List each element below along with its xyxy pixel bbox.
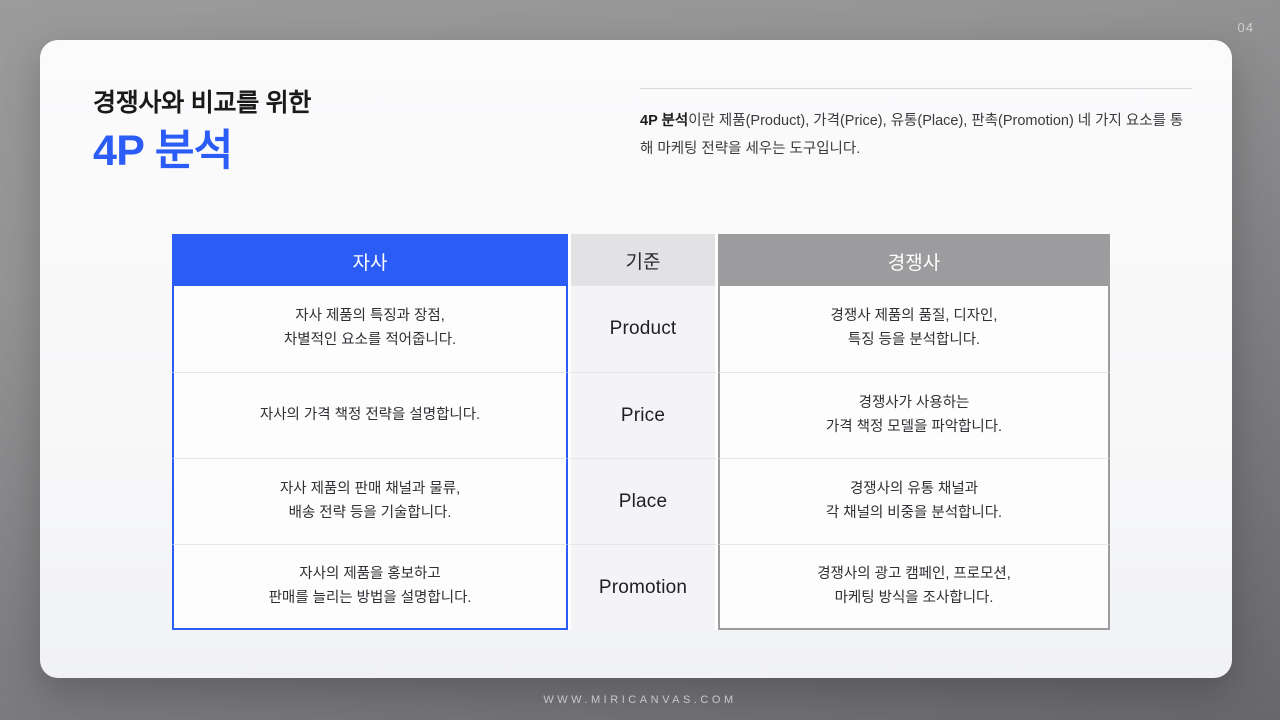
heading: 경쟁사와 비교를 위한 4P 분석 [93,88,311,176]
comparison-table: 자사 기준 경쟁사 자사 제품의 특징과 장점, 차별적인 요소를 적어줍니다.… [172,234,1110,630]
page-title: 4P 분석 [93,128,311,175]
cell-own: 자사의 가격 책정 전략을 설명합니다. [172,372,568,458]
cell-comp-line2: 각 채널의 비중을 분석합니다. [720,502,1108,526]
cell-own-line1: 자사 제품의 판매 채널과 물류, [174,478,566,502]
cell-own-line2: 판매를 늘리는 방법을 설명합니다. [174,587,566,611]
table-header-row: 자사 기준 경쟁사 [172,234,1110,286]
description-lead: 4P 분석 [640,113,688,129]
slide-card: 경쟁사와 비교를 위한 4P 분석 4P 분석이란 제품(Product), 가… [40,40,1232,678]
cell-comp-line2: 가격 책정 모델을 파악합니다. [720,416,1108,440]
cell-own: 자사 제품의 특징과 장점, 차별적인 요소를 적어줍니다. [172,286,568,372]
description-text: 4P 분석이란 제품(Product), 가격(Price), 유통(Place… [640,108,1192,164]
header-criterion: 기준 [568,234,718,286]
header-competitor: 경쟁사 [718,234,1110,286]
table-row: 자사의 가격 책정 전략을 설명합니다. Price 경쟁사가 사용하는 가격 … [172,372,1110,458]
divider [640,88,1192,89]
footer-url: WWW.MIRICANVAS.COM [0,694,1280,706]
cell-competitor: 경쟁사 제품의 품질, 디자인, 특징 등을 분석합니다. [718,286,1110,372]
cell-own-line2: 배송 전략 등을 기술합니다. [174,502,566,526]
table-row: 자사 제품의 특징과 장점, 차별적인 요소를 적어줍니다. Product 경… [172,286,1110,372]
cell-comp-line1: 경쟁사가 사용하는 [720,392,1108,416]
comparison-table-wrapper: 자사 기준 경쟁사 자사 제품의 특징과 장점, 차별적인 요소를 적어줍니다.… [172,234,1110,630]
cell-competitor: 경쟁사가 사용하는 가격 책정 모델을 파악합니다. [718,372,1110,458]
cell-criterion: Price [568,372,718,458]
header-own: 자사 [172,234,568,286]
cell-own-line1: 자사 제품의 특징과 장점, [174,305,566,329]
page-subtitle: 경쟁사와 비교를 위한 [93,88,311,119]
cell-competitor: 경쟁사의 유통 채널과 각 채널의 비중을 분석합니다. [718,458,1110,544]
cell-own: 자사 제품의 판매 채널과 물류, 배송 전략 등을 기술합니다. [172,458,568,544]
cell-criterion: Place [568,458,718,544]
cell-comp-line1: 경쟁사의 광고 캠페인, 프로모션, [720,563,1108,587]
cell-comp-line1: 경쟁사 제품의 품질, 디자인, [720,305,1108,329]
cell-own-line2: 차별적인 요소를 적어줍니다. [174,329,566,353]
cell-comp-line2: 특징 등을 분석합니다. [720,329,1108,353]
cell-comp-line1: 경쟁사의 유통 채널과 [720,478,1108,502]
cell-own: 자사의 제품을 홍보하고 판매를 늘리는 방법을 설명합니다. [172,544,568,630]
table-row: 자사의 제품을 홍보하고 판매를 늘리는 방법을 설명합니다. Promotio… [172,544,1110,630]
cell-criterion: Promotion [568,544,718,630]
description-rest: 이란 제품(Product), 가격(Price), 유통(Place), 판촉… [640,113,1183,157]
cell-criterion: Product [568,286,718,372]
cell-competitor: 경쟁사의 광고 캠페인, 프로모션, 마케팅 방식을 조사합니다. [718,544,1110,630]
cell-comp-line2: 마케팅 방식을 조사합니다. [720,587,1108,611]
cell-own-line1: 자사의 제품을 홍보하고 [174,563,566,587]
table-row: 자사 제품의 판매 채널과 물류, 배송 전략 등을 기술합니다. Place … [172,458,1110,544]
description-block: 4P 분석이란 제품(Product), 가격(Price), 유통(Place… [640,88,1192,164]
cell-own-line1: 자사의 가격 책정 전략을 설명합니다. [174,404,566,428]
page-number: 04 [1237,20,1254,35]
